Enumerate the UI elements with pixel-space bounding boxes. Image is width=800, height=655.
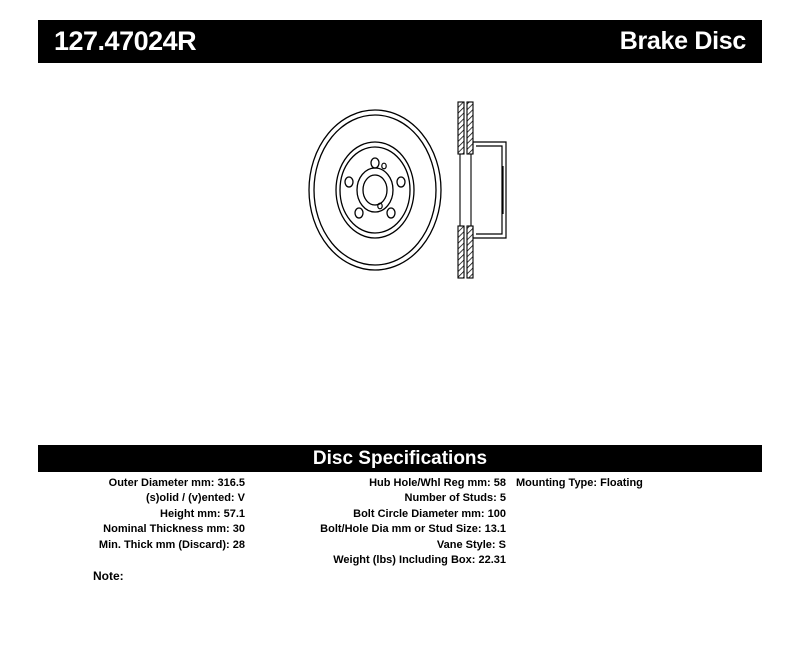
stud-holes: [345, 158, 405, 218]
spec-column-left: Outer Diameter mm: 316.5(s)olid / (v)ent…: [38, 476, 245, 553]
spec-row: Nominal Thickness mm: 30: [38, 522, 245, 537]
spec-row: Bolt Circle Diameter mm: 100: [253, 507, 506, 522]
product-drawing: [270, 80, 530, 305]
header-bar: 127.47024R Brake Disc: [38, 20, 762, 63]
spec-label: Nominal Thickness mm:: [103, 523, 230, 535]
brake-rotor-technical-drawing: [270, 80, 530, 305]
spec-label: Outer Diameter mm:: [109, 477, 215, 489]
note-label: Note:: [93, 569, 124, 583]
spec-row: Weight (lbs) Including Box: 22.31: [253, 553, 506, 568]
spec-label: Vane Style:: [437, 539, 496, 551]
spec-label: (s)olid / (v)ented:: [146, 492, 235, 504]
spec-value: V: [235, 492, 245, 504]
spec-row: Number of Studs: 5: [253, 491, 506, 506]
spec-value: 28: [230, 539, 245, 551]
specifications-table: Outer Diameter mm: 316.5(s)olid / (v)ent…: [38, 476, 762, 581]
spec-value: 57.1: [221, 508, 245, 520]
spec-label: Bolt/Hole Dia mm or Stud Size:: [320, 523, 481, 535]
spec-label: Height mm:: [160, 508, 221, 520]
spec-label: Hub Hole/Whl Reg mm:: [369, 477, 491, 489]
spec-row: Bolt/Hole Dia mm or Stud Size: 13.1: [253, 522, 506, 537]
disc-specifications-bar: Disc Specifications: [38, 445, 762, 472]
rotor-edge-view: [458, 102, 506, 278]
spec-label: Number of Studs:: [405, 492, 497, 504]
spec-label: Min. Thick mm (Discard):: [99, 539, 230, 551]
spec-row: (s)olid / (v)ented: V: [38, 491, 245, 506]
part-number: 127.47024R: [54, 28, 196, 55]
product-type-title: Brake Disc: [620, 29, 746, 54]
spec-row: Outer Diameter mm: 316.5: [38, 476, 245, 491]
spec-row: Height mm: 57.1: [38, 507, 245, 522]
spec-row: Mounting Type: Floating: [516, 476, 762, 491]
spec-column-middle: Hub Hole/Whl Reg mm: 58Number of Studs: …: [253, 476, 506, 568]
spec-value: 30: [230, 523, 245, 535]
spec-row: Min. Thick mm (Discard): 28: [38, 538, 245, 553]
spec-value: Floating: [597, 477, 643, 489]
spec-value: 5: [497, 492, 506, 504]
spec-row: Vane Style: S: [253, 538, 506, 553]
note-area: Note:: [93, 569, 327, 583]
spec-row: Hub Hole/Whl Reg mm: 58: [253, 476, 506, 491]
spec-label: Bolt Circle Diameter mm:: [353, 508, 484, 520]
rotor-face-view: [309, 110, 441, 270]
spec-value: 100: [485, 508, 506, 520]
spec-value: 13.1: [482, 523, 506, 535]
disc-specifications-title: Disc Specifications: [313, 449, 487, 468]
spec-label: Weight (lbs) Including Box:: [333, 554, 475, 566]
spec-value: 58: [491, 477, 506, 489]
spec-column-right: Mounting Type: Floating: [516, 476, 762, 491]
spec-value: 316.5: [214, 477, 245, 489]
spec-label: Mounting Type:: [516, 477, 597, 489]
spec-value: S: [496, 539, 506, 551]
spec-value: 22.31: [475, 554, 506, 566]
